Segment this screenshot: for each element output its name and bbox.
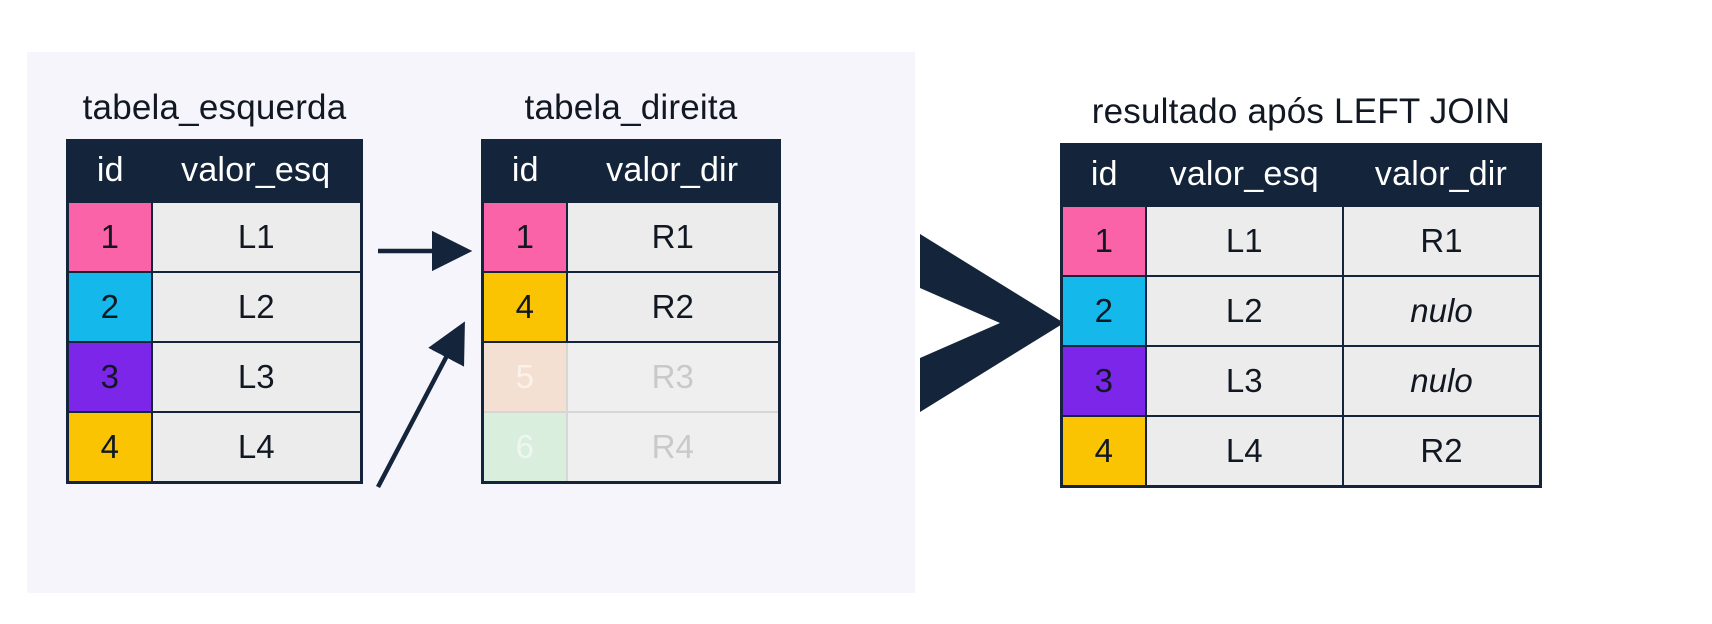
left-col-header-id: id (68, 141, 152, 203)
right-col-header-valor-dir: valor_dir (567, 141, 780, 203)
result-row-3-valor-dir: nulo (1343, 346, 1541, 416)
table-row: 4 R2 (483, 272, 780, 342)
result-row-2-valor-esq: L2 (1146, 276, 1344, 346)
result-table-block: resultado após LEFT JOIN id valor_esq va… (1060, 92, 1542, 488)
result-table-caption: resultado após LEFT JOIN (1060, 92, 1542, 132)
table-row-unmatched: 5 R3 (483, 342, 780, 412)
table-row: 3 L3 nulo (1062, 346, 1541, 416)
table-row: 3 L3 (68, 342, 362, 412)
result-row-2-valor-dir: nulo (1343, 276, 1541, 346)
result-row-3-valor-esq: L3 (1146, 346, 1344, 416)
table-row: 2 L2 (68, 272, 362, 342)
result-col-header-valor-esq: valor_esq (1146, 145, 1344, 207)
left-row-3-valor: L3 (152, 342, 362, 412)
right-table-caption: tabela_direita (481, 88, 781, 128)
right-row-4-id: 6 (483, 412, 567, 483)
chevron-right-icon (912, 228, 1072, 418)
result-row-4-valor-dir: R2 (1343, 416, 1541, 487)
left-row-2-id: 2 (68, 272, 152, 342)
right-row-3-id-text: 5 (516, 358, 534, 395)
right-table-block: tabela_direita id valor_dir 1 R1 4 R2 5 … (481, 88, 781, 484)
right-row-4-valor: R4 (567, 412, 780, 483)
result-row-1-valor-esq: L1 (1146, 206, 1344, 276)
right-row-2-valor: R2 (567, 272, 780, 342)
right-row-4-id-text: 6 (516, 428, 534, 465)
left-row-1-valor: L1 (152, 202, 362, 272)
left-row-2-valor: L2 (152, 272, 362, 342)
left-table-block: tabela_esquerda id valor_esq 1 L1 2 L2 3… (66, 88, 363, 484)
result-table: id valor_esq valor_dir 1 L1 R1 2 L2 nulo… (1060, 143, 1542, 488)
right-col-header-id: id (483, 141, 567, 203)
right-table-header-row: id valor_dir (483, 141, 780, 203)
table-row: 4 L4 R2 (1062, 416, 1541, 487)
result-row-2-id: 2 (1062, 276, 1146, 346)
table-row: 2 L2 nulo (1062, 276, 1541, 346)
right-row-1-valor: R1 (567, 202, 780, 272)
result-row-4-valor-esq: L4 (1146, 416, 1344, 487)
table-row: 1 R1 (483, 202, 780, 272)
left-row-4-valor: L4 (152, 412, 362, 483)
result-row-4-id: 4 (1062, 416, 1146, 487)
result-table-header-row: id valor_esq valor_dir (1062, 145, 1541, 207)
left-row-3-id: 3 (68, 342, 152, 412)
right-row-1-id: 1 (483, 202, 567, 272)
result-row-1-valor-dir: R1 (1343, 206, 1541, 276)
right-row-3-id: 5 (483, 342, 567, 412)
result-col-header-id: id (1062, 145, 1146, 207)
left-table-header-row: id valor_esq (68, 141, 362, 203)
left-row-1-id: 1 (68, 202, 152, 272)
table-row: 1 L1 (68, 202, 362, 272)
table-row: 1 L1 R1 (1062, 206, 1541, 276)
table-row: 4 L4 (68, 412, 362, 483)
result-row-1-id: 1 (1062, 206, 1146, 276)
result-col-header-valor-dir: valor_dir (1343, 145, 1541, 207)
left-table: id valor_esq 1 L1 2 L2 3 L3 4 L4 (66, 139, 363, 484)
left-table-caption: tabela_esquerda (66, 88, 363, 128)
right-row-3-valor: R3 (567, 342, 780, 412)
result-row-3-id: 3 (1062, 346, 1146, 416)
table-row-unmatched: 6 R4 (483, 412, 780, 483)
left-col-header-valor-esq: valor_esq (152, 141, 362, 203)
right-row-2-id: 4 (483, 272, 567, 342)
right-table: id valor_dir 1 R1 4 R2 5 R3 6 R4 (481, 139, 781, 484)
left-row-4-id: 4 (68, 412, 152, 483)
